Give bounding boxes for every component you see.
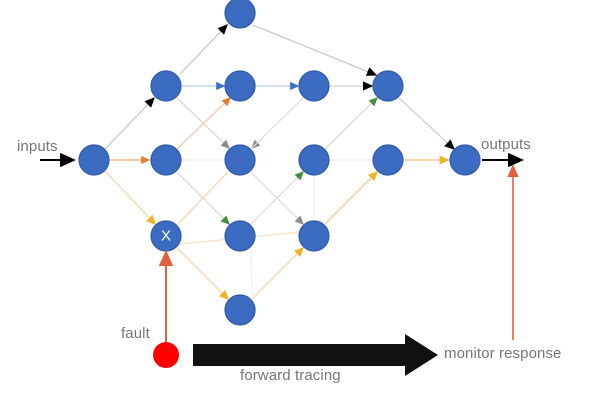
edge-r2c4-to-out: [399, 98, 454, 149]
network-graph-svg: [0, 0, 600, 400]
edge-fault-to-r4c2: [177, 248, 228, 299]
edge-bot-to-r4c3: [252, 248, 303, 299]
edge-in-to-fault: [105, 171, 155, 224]
row4-node-2[interactable]: [225, 221, 255, 251]
bottom-node[interactable]: [225, 295, 255, 325]
node-layer: [79, 0, 480, 325]
diagram-canvas: X inputs outputs fault forward tracing m…: [0, 0, 600, 400]
inputs-label: inputs: [17, 138, 58, 155]
fault-label: fault: [121, 325, 150, 342]
top-node[interactable]: [225, 0, 255, 28]
row4-node-3[interactable]: [299, 221, 329, 251]
row3-node-1[interactable]: [151, 145, 181, 175]
edge-in-to-r2c1: [105, 98, 154, 149]
edge-r3c3-to-r2c4: [325, 98, 377, 149]
edge-r2c1-to-r3c2: [177, 98, 229, 148]
edge-r4c2-to-bot: [251, 248, 252, 296]
faulty-node[interactable]: [151, 221, 181, 251]
row2-node-2[interactable]: [225, 71, 255, 101]
monitor-response-label: monitor response: [444, 345, 562, 362]
outputs-label: outputs: [481, 136, 531, 153]
input-node[interactable]: [79, 145, 109, 175]
edge-r3c2-to-r2c3: [251, 98, 303, 149]
row2-node-1[interactable]: [151, 71, 181, 101]
annotation-layer: [40, 160, 522, 376]
row3-node-3[interactable]: [299, 145, 329, 175]
row3-node-2[interactable]: [225, 145, 255, 175]
output-node[interactable]: [450, 145, 480, 175]
row2-node-4[interactable]: [373, 71, 403, 101]
edge-r4c3-to-r3c4: [325, 172, 377, 224]
row3-node-4[interactable]: [373, 145, 403, 175]
fault-dot[interactable]: [153, 342, 179, 368]
forward-tracing-label: forward tracing: [240, 367, 341, 384]
edge-r2c1-to-top: [180, 25, 227, 74]
row2-node-3[interactable]: [299, 71, 329, 101]
edge-top-to-r2c4: [253, 25, 376, 75]
